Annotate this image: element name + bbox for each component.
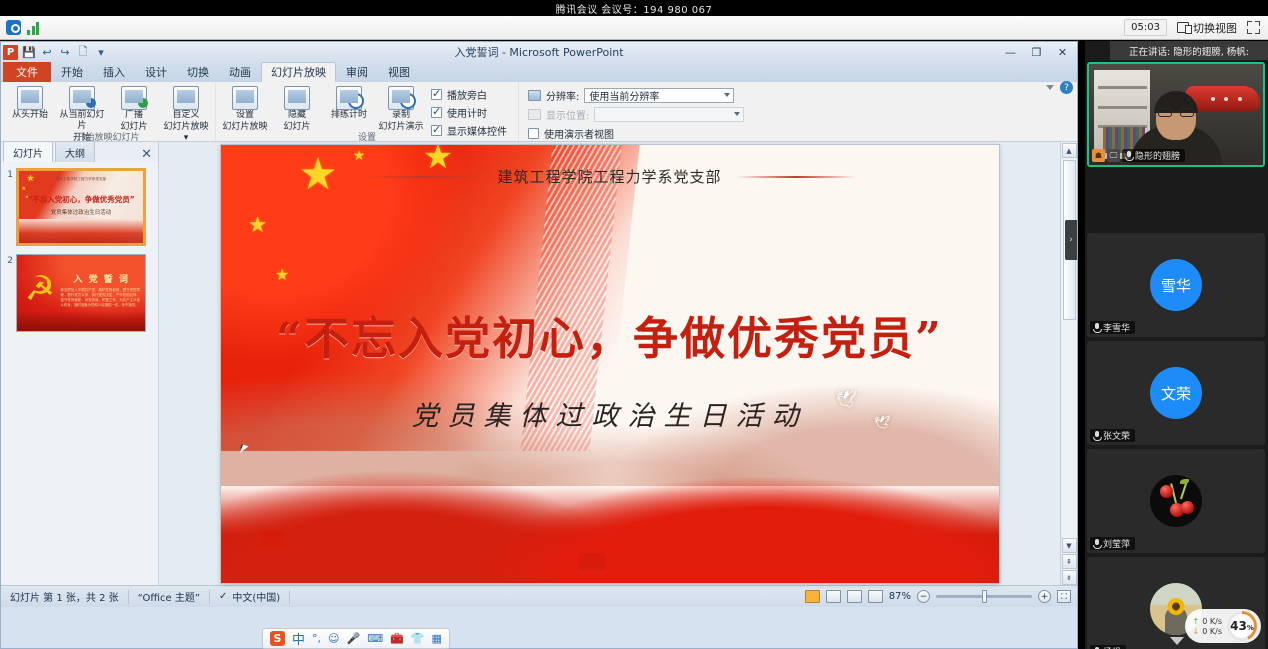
setup-show-icon	[232, 86, 258, 110]
participant-avatar-2: 文荣	[1150, 367, 1202, 419]
participant-name-0: 隐形的翅膀	[1122, 149, 1185, 162]
fullscreen-icon[interactable]	[1247, 21, 1260, 34]
zoom-slider-knob[interactable]	[982, 590, 987, 603]
ime-toolbox-icon[interactable]: 🧰	[390, 632, 404, 645]
meeting-title-text: 腾讯会议 会议号：194 980 067	[556, 1, 713, 16]
hide-slide-button[interactable]: 隐藏 幻灯片	[271, 84, 323, 133]
panel-tab-slides[interactable]: 幻灯片	[3, 141, 53, 162]
hide-slide-icon	[284, 86, 310, 110]
setup-slideshow-button[interactable]: 设置 幻灯片放映	[219, 84, 271, 133]
panel-close-icon[interactable]: ✕	[141, 148, 156, 162]
slide-thumb-header-1: 建筑工程学院工程力学系党支部	[19, 177, 143, 182]
resolution-value: 使用当前分辨率	[589, 88, 659, 103]
upload-speed-value: 0 K/s	[1202, 617, 1222, 626]
slide-thumbnail-list: 1 ★ ★ ★ 建筑工程学院工程力学系党支部 “不忘入党初心，争做优秀党员” 党…	[1, 162, 158, 585]
record-slideshow-button[interactable]: 录制 幻灯片演示	[375, 84, 427, 133]
custom-show-icon	[173, 86, 199, 110]
dove-icon-1: 🕊	[835, 390, 857, 410]
status-theme[interactable]: “Office 主题”	[129, 590, 210, 604]
ime-chinese-mode-icon[interactable]: 中	[292, 629, 305, 648]
slide-thumb-body-2: 我志愿加入中国共产党，拥护党的纲领，遵守党的章程，履行党员义务，执行党的决定，严…	[61, 288, 140, 308]
start-from-beginning-button[interactable]: 从头开始	[4, 84, 56, 122]
switch-view-label: 切换视图	[1193, 20, 1237, 36]
ribbon: 从头开始 从当前幻灯片 开始 广播 幻灯片 自定义	[1, 82, 1077, 142]
language-proof-icon: ✓	[219, 591, 227, 602]
panel-tab-strip: 幻灯片 大纲 ✕	[1, 142, 158, 162]
participant-tile-0[interactable]: ☗ 🖵 隐形的翅膀	[1087, 62, 1265, 167]
upload-arrow-icon: ↑	[1193, 617, 1200, 626]
tab-home[interactable]: 开始	[51, 62, 93, 82]
tab-review[interactable]: 审阅	[336, 62, 378, 82]
ime-keyboard-icon[interactable]: ⌨	[367, 632, 383, 645]
participant-avatar-1: 雪华	[1150, 259, 1202, 311]
participant-badges-0: ☗ 🖵 隐形的翅膀	[1092, 149, 1185, 162]
participant-rail: 正在讲话: 隐形的翅膀, 杨帆: ☗ 🖵 隐形的翅膀 雪华	[1085, 41, 1268, 649]
use-timings-checkbox-icon[interactable]	[431, 107, 442, 118]
meeting-timer: 05:03	[1124, 19, 1167, 36]
chevron-down-icon-2	[734, 112, 740, 116]
mic-icon-3	[1093, 539, 1100, 549]
broadcast-slideshow-button[interactable]: 广播 幻灯片	[108, 84, 160, 133]
ribbon-group-setup: 设置 幻灯片放映 隐藏 幻灯片 排练计时 录制	[215, 82, 518, 141]
red-crowd-art	[221, 469, 999, 583]
download-arrow-icon: ↓	[1193, 627, 1200, 636]
from-current-label-1: 从当前幻灯片	[56, 110, 108, 132]
panel-tab-outline[interactable]: 大纲	[55, 141, 95, 162]
broadcast-label-1: 广播	[125, 110, 143, 121]
upload-speed-row: ↑ 0 K/s	[1193, 617, 1222, 626]
presenter-view-label: 使用演示者视图	[544, 126, 614, 141]
switch-view-icon	[1177, 22, 1189, 33]
slide-number-2: 2	[3, 254, 13, 332]
use-timings-label: 使用计时	[447, 105, 487, 120]
participant-name-text-3: 刘莹萍	[1103, 537, 1130, 550]
slide-thumbnail-panel: 幻灯片 大纲 ✕ 1 ★ ★ ★ 建筑工程学院工程力学系党支部	[1, 142, 159, 585]
display-label: 显示位置:	[546, 107, 589, 122]
slide-header-row: 建筑工程学院工程力学系党支部	[221, 166, 999, 187]
slide-thumb-image-1[interactable]: ★ ★ ★ 建筑工程学院工程力学系党支部 “不忘入党初心，争做优秀党员” 党员集…	[16, 168, 146, 246]
cpu-usage-unit: %	[1247, 624, 1254, 632]
participant-name-3: 刘莹萍	[1090, 537, 1135, 550]
participant-tile-4[interactable]: ↑ 0 K/s ↓ 0 K/s 43% 杨帆	[1087, 557, 1265, 649]
setup-show-label-1: 设置	[236, 110, 254, 121]
slide-thumb-title-2: 入 党 誓 词	[63, 272, 140, 285]
status-language[interactable]: ✓ 中文(中国)	[210, 590, 290, 604]
ime-toolbar[interactable]: S 中 °, ☺ 🎤 ⌨ 🧰 👕 ▦	[262, 628, 450, 649]
zoom-out-button[interactable]: −	[917, 590, 930, 603]
participant-name-text-2: 张文荣	[1103, 429, 1130, 442]
slide-thumb-title-1: “不忘入党初心，争做优秀党员”	[19, 194, 143, 205]
from-beginning-icon	[17, 86, 43, 110]
collapse-panel-handle[interactable]: ›	[1065, 220, 1077, 260]
current-slide[interactable]: ★ ★ ★ ★ ★ 建筑工程学院工程力学系党支部 “不忘入党初心，争做优秀党员”	[221, 145, 999, 583]
checkbox-presenter-view[interactable]: 使用演示者视图	[528, 126, 744, 141]
participant-name-4: 杨帆	[1090, 645, 1126, 649]
party-emblem-icon: ☭	[25, 272, 63, 310]
rehearse-timings-icon	[336, 86, 362, 110]
shield-icon[interactable]	[6, 20, 21, 35]
zoom-slider[interactable]	[936, 595, 1032, 598]
signal-bars-icon[interactable]	[27, 21, 43, 35]
speaking-indicator: 正在讲话: 隐形的翅膀, 杨帆:	[1110, 41, 1268, 60]
slide-thumb-subtitle-1: 党员集体过政治生日活动	[19, 208, 143, 216]
next-slide-button[interactable]: ⇟	[1062, 570, 1077, 585]
checkbox-play-narrations[interactable]: 播放旁白	[431, 87, 507, 102]
resolution-label: 分辨率:	[546, 88, 579, 103]
slide-canvas[interactable]: ★ ★ ★ ★ ★ 建筑工程学院工程力学系党支部 “不忘入党初心，争做优秀党员”	[159, 142, 1060, 585]
cpu-usage-value: 43	[1230, 619, 1247, 633]
sogou-logo-icon[interactable]: S	[270, 631, 285, 646]
ppt-status-bar: 幻灯片 第 1 张，共 2 张 “Office 主题” ✓ 中文(中国) 87%…	[1, 585, 1077, 607]
network-stats-overlay: ↑ 0 K/s ↓ 0 K/s 43%	[1185, 609, 1261, 643]
header-rule-right	[736, 176, 856, 178]
broadcast-icon	[121, 86, 147, 110]
record-slideshow-icon	[388, 86, 414, 110]
dove-icon-2: 🕊	[874, 416, 891, 431]
display-location-icon	[528, 109, 541, 120]
play-narrations-checkbox-icon[interactable]	[431, 89, 442, 100]
view-reading-button[interactable]	[847, 590, 862, 603]
ppt-title-bar: P 💾 ↩ ↪ 🗋 ▾ 入党誓词 - Microsoft PowerPoint …	[1, 42, 1077, 62]
participant-tile-3[interactable]: 刘莹萍	[1087, 449, 1265, 553]
from-current-icon	[69, 86, 95, 110]
participant-name-2: 张文荣	[1090, 429, 1135, 442]
participant-avatar-3	[1150, 475, 1202, 527]
display-row: 显示位置:	[528, 107, 744, 122]
flag-star-icon-3: ★	[275, 267, 289, 283]
flag-star-icon-4: ★	[353, 149, 366, 163]
custom-show-label-1: 自定义	[172, 110, 199, 121]
participant-name-text-0: 隐形的翅膀	[1135, 149, 1180, 162]
participant-tile-1[interactable]: 雪华 李雪华	[1087, 233, 1265, 337]
tab-animations[interactable]: 动画	[219, 62, 261, 82]
tab-slideshow[interactable]: 幻灯片放映	[261, 62, 336, 82]
view-slide-sorter-button[interactable]	[826, 590, 841, 603]
tab-file[interactable]: 文件	[3, 62, 51, 82]
screen-share-icon: 🖵	[1107, 149, 1120, 162]
download-speed-row: ↓ 0 K/s	[1193, 627, 1222, 636]
editor-work-area: 幻灯片 大纲 ✕ 1 ★ ★ ★ 建筑工程学院工程力学系党支部	[1, 142, 1077, 585]
scroll-more-participants-icon[interactable]	[1170, 637, 1184, 645]
slide-thumb-image-2[interactable]: ☭ 入 党 誓 词 我志愿加入中国共产党，拥护党的纲领，遵守党的章程，履行党员义…	[16, 254, 146, 332]
previous-slide-button[interactable]: ⇞	[1062, 554, 1077, 569]
flag-star-icon-2: ★	[248, 215, 268, 237]
resolution-select[interactable]: 使用当前分辨率	[584, 88, 734, 103]
download-speed-value: 0 K/s	[1202, 627, 1222, 636]
record-label-1: 录制	[392, 110, 410, 121]
tab-design[interactable]: 设计	[135, 62, 177, 82]
participant-name-text-1: 李雪华	[1103, 321, 1130, 334]
switch-view-button[interactable]: 切换视图	[1177, 20, 1237, 36]
tab-view[interactable]: 视图	[378, 62, 420, 82]
collapse-ribbon-icon[interactable]	[1046, 85, 1054, 90]
view-normal-button[interactable]	[805, 590, 820, 603]
resolution-icon	[528, 90, 541, 101]
ribbon-group-monitors: 分辨率: 使用当前分辨率 显示位置:	[518, 82, 753, 141]
ime-mic-icon[interactable]: 🎤	[346, 632, 360, 645]
slide-header-text: 建筑工程学院工程力学系党支部	[497, 166, 721, 187]
hide-slide-label-1: 隐藏	[288, 110, 306, 121]
tab-transitions[interactable]: 切换	[177, 62, 219, 82]
ribbon-tab-strip: 文件 开始 插入 设计 切换 动画 幻灯片放映 审阅 视图	[1, 62, 1077, 82]
rehearse-timings-label: 排练计时	[331, 110, 367, 121]
participant-name-text-4: 杨帆	[1103, 645, 1121, 649]
ime-skin-icon[interactable]: 👕	[411, 632, 425, 645]
status-language-text: 中文(中国)	[232, 589, 280, 604]
ime-emoji-icon[interactable]: ☺	[328, 632, 339, 645]
ime-apps-icon[interactable]: ▦	[431, 632, 441, 645]
slide-number-1: 1	[3, 168, 13, 246]
mic-icon-1	[1093, 323, 1100, 333]
participant-name-1: 李雪华	[1090, 321, 1135, 334]
fit-to-window-button[interactable]: ⛶	[1057, 590, 1071, 603]
presenter-view-checkbox-icon[interactable]	[528, 128, 539, 139]
resolution-row: 分辨率: 使用当前分辨率	[528, 88, 744, 103]
slide-thumbnail-2[interactable]: 2 ☭ 入 党 誓 词 我志愿加入中国共产党，拥护党的纲领，遵守党的章程，履行党…	[3, 254, 154, 332]
from-beginning-label: 从头开始	[12, 110, 48, 121]
ppt-window-title: 入党誓词 - Microsoft PowerPoint	[1, 44, 1077, 60]
help-icon[interactable]: ?	[1060, 81, 1073, 94]
slide-thumbnail-1[interactable]: 1 ★ ★ ★ 建筑工程学院工程力学系党支部 “不忘入党初心，争做优秀党员” 党…	[3, 168, 154, 246]
vertical-scrollbar[interactable]: ▲ ▼ ⇞ ⇟	[1060, 142, 1077, 585]
ime-punctuation-icon[interactable]: °,	[312, 632, 321, 645]
rehearse-timings-button[interactable]: 排练计时	[323, 84, 375, 122]
status-zoom-value: 87%	[889, 591, 911, 602]
header-rule-left	[363, 176, 483, 178]
scroll-down-button[interactable]: ▼	[1062, 538, 1077, 553]
mic-icon-0	[1125, 151, 1132, 161]
status-slide-count: 幻灯片 第 1 张，共 2 张	[1, 590, 129, 604]
meeting-toolbar: 05:03 切换视图	[0, 16, 1268, 40]
scroll-up-button[interactable]: ▲	[1062, 143, 1077, 158]
powerpoint-window: P 💾 ↩ ↪ 🗋 ▾ 入党誓词 - Microsoft PowerPoint …	[0, 41, 1078, 649]
zoom-in-button[interactable]: +	[1038, 590, 1051, 603]
play-narrations-label: 播放旁白	[447, 87, 487, 102]
tab-insert[interactable]: 插入	[93, 62, 135, 82]
mic-icon-2	[1093, 431, 1100, 441]
participant-tile-2[interactable]: 文荣 张文荣	[1087, 341, 1265, 445]
show-media-controls-checkbox-icon[interactable]	[431, 125, 442, 136]
slide-main-title: “不忘入党初心，争做优秀党员”	[221, 302, 999, 367]
checkbox-use-timings[interactable]: 使用计时	[431, 105, 507, 120]
meeting-title-bar: 腾讯会议 会议号：194 980 067	[0, 0, 1268, 16]
ribbon-group-start-slideshow: 从头开始 从当前幻灯片 开始 广播 幻灯片 自定义	[1, 82, 215, 141]
view-slideshow-button[interactable]	[868, 590, 883, 603]
display-select	[594, 107, 744, 122]
host-badge-icon: ☗	[1092, 149, 1105, 162]
chevron-down-icon	[724, 93, 730, 97]
cpu-usage-gauge: 43%	[1227, 611, 1257, 641]
